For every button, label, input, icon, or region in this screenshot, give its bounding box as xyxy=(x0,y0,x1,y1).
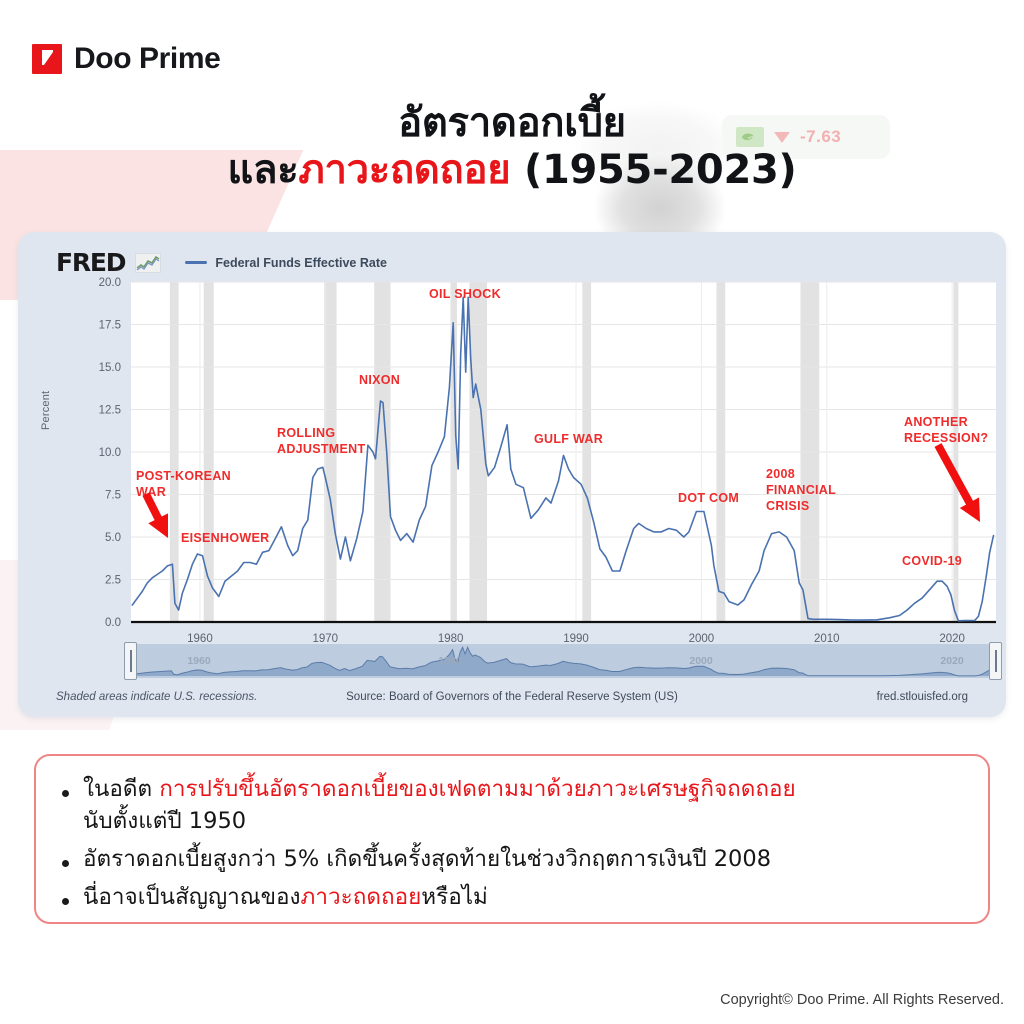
brand-name: Doo Prime xyxy=(74,42,220,76)
y-tick-label: 17.5 xyxy=(99,320,121,332)
annotation-label: POST-KOREAN xyxy=(136,469,231,483)
bullet-dot-icon xyxy=(62,860,69,867)
bullet-item: อัตราดอกเบี้ยสูงกว่า 5% เกิดขึ้นครั้งสุด… xyxy=(62,844,962,876)
annotation-label: ROLLING xyxy=(277,426,335,440)
title-line-2-highlight: ภาวะถดถอย xyxy=(298,147,510,193)
chart-annotation: OIL SHOCK xyxy=(429,287,501,301)
annotation-label: CRISIS xyxy=(766,499,809,513)
y-tick-label: 20.0 xyxy=(99,277,121,289)
range-handle-left[interactable] xyxy=(124,642,137,680)
navigator-year-label: 2000 xyxy=(689,655,713,667)
bullet-dot-icon xyxy=(62,790,69,797)
bullet-item: นี่อาจเป็นสัญญาณของภาวะถดถอยหรือไม่ xyxy=(62,882,962,914)
annotation-label: DOT COM xyxy=(678,491,739,505)
bullet-text: นี่อาจเป็นสัญญาณของภาวะถดถอยหรือไม่ xyxy=(83,882,488,914)
annotation-label: NIXON xyxy=(359,373,400,387)
fred-chart-card: FRED Federal Funds Effective Rate Percen… xyxy=(18,232,1006,717)
bullet-text: อัตราดอกเบี้ยสูงกว่า 5% เกิดขึ้นครั้งสุด… xyxy=(83,844,771,876)
copyright-text: Copyright© Doo Prime. All Rights Reserve… xyxy=(720,992,1004,1008)
y-tick-label: 2.5 xyxy=(105,575,121,587)
title-line-2: และภาวะถดถอย (1955-2023) xyxy=(0,147,1024,194)
chart-annotation: DOT COM xyxy=(678,491,739,505)
y-tick-label: 7.5 xyxy=(105,490,121,502)
annotation-label: ANOTHER xyxy=(904,415,968,429)
title-line-1: อัตราดอกเบี้ย xyxy=(0,100,1024,147)
title-line-2-prefix: และ xyxy=(228,147,299,193)
annotation-label: FINANCIAL xyxy=(766,483,836,497)
annotation-label: ADJUSTMENT xyxy=(277,442,365,456)
annotation-label: 2008 xyxy=(766,467,795,481)
bullet-dot-icon xyxy=(62,898,69,905)
annotation-label: EISENHOWER xyxy=(181,531,269,545)
navigator-year-label: 1980 xyxy=(438,655,462,667)
navigator-year-label: 1960 xyxy=(187,655,211,667)
chart-annotation: GULF WAR xyxy=(534,432,603,446)
brand-logo: Doo Prime xyxy=(32,42,220,76)
range-handle-right[interactable] xyxy=(989,642,1002,680)
line-chart-plot: 0.02.55.07.510.012.515.017.520.019601970… xyxy=(18,232,1006,652)
bullet-text: ในอดีต การปรับขึ้นอัตราดอกเบี้ยของเฟดตาม… xyxy=(83,774,796,838)
key-points-box: ในอดีต การปรับขึ้นอัตราดอกเบี้ยของเฟดตาม… xyxy=(34,754,990,924)
footer-source: Source: Board of Governors of the Federa… xyxy=(18,691,1006,703)
y-tick-label: 10.0 xyxy=(99,447,121,459)
doo-prime-logo-icon xyxy=(32,44,62,74)
page-title: อัตราดอกเบี้ย และภาวะถดถอย (1955-2023) xyxy=(0,100,1024,194)
chart-range-navigator[interactable]: 1960198020002020 xyxy=(130,644,996,678)
y-tick-label: 5.0 xyxy=(105,532,121,544)
annotation-label: RECESSION? xyxy=(904,431,988,445)
bullet-item: ในอดีต การปรับขึ้นอัตราดอกเบี้ยของเฟดตาม… xyxy=(62,774,962,838)
chart-annotation: NIXON xyxy=(359,373,400,387)
chart-annotation: EISENHOWER xyxy=(181,531,269,545)
annotation-label: OIL SHOCK xyxy=(429,287,501,301)
navigator-year-label: 2020 xyxy=(940,655,964,667)
annotation-label: GULF WAR xyxy=(534,432,603,446)
navigator-sparkline: 1960198020002020 xyxy=(130,644,996,678)
annotation-label: COVID-19 xyxy=(902,554,962,568)
title-line-2-suffix: (1955-2023) xyxy=(510,147,796,193)
chart-annotation: COVID-19 xyxy=(902,554,962,568)
y-tick-label: 15.0 xyxy=(99,362,121,374)
footer-url: fred.stlouisfed.org xyxy=(877,691,968,703)
y-tick-label: 0.0 xyxy=(105,617,121,629)
y-tick-label: 12.5 xyxy=(99,405,121,417)
